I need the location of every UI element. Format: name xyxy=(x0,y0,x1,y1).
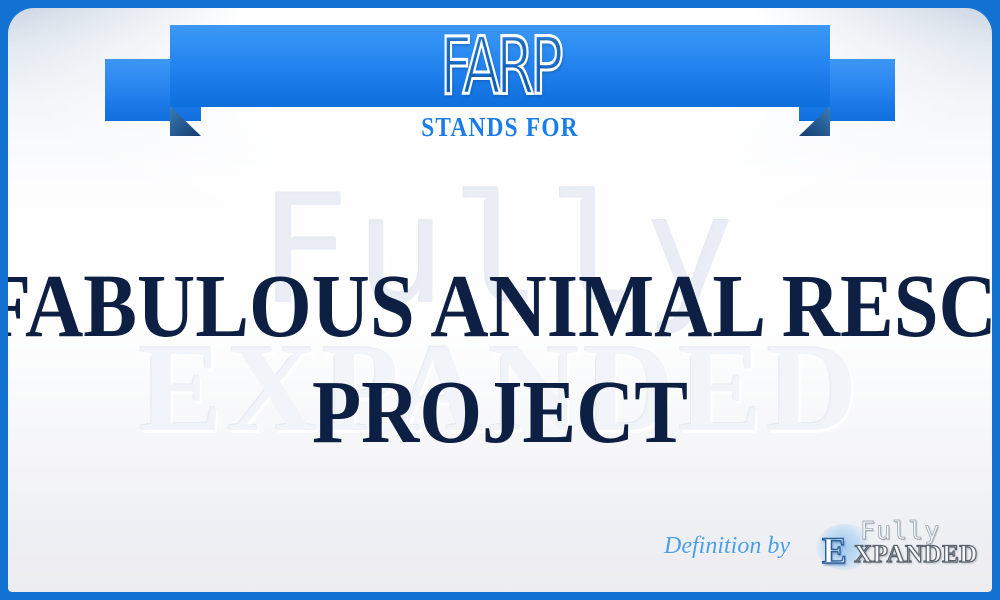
ribbon-banner: FARP xyxy=(8,22,992,126)
acronym-definition-card: Fully EXPANDED FARP STANDS FOR FABULOUS … xyxy=(0,0,1000,600)
logo-initial-e: E xyxy=(822,533,847,570)
stands-for-label: STANDS FOR xyxy=(77,112,923,143)
card-panel: Fully EXPANDED FARP STANDS FOR FABULOUS … xyxy=(8,8,992,592)
definition-line-2: PROJECT xyxy=(8,369,992,457)
definition-text: FABULOUS ANIMAL RESCUE PROJECT xyxy=(8,263,992,458)
definition-line-1: FABULOUS ANIMAL RESCUE xyxy=(8,263,992,351)
ribbon-band: FARP xyxy=(170,25,830,107)
logo-word-xpanded: XPANDED xyxy=(854,542,978,567)
logo-word-fully: Fully xyxy=(860,518,940,543)
acronym-title: FARP xyxy=(440,26,559,105)
definition-by-label: Definition by xyxy=(664,533,790,560)
card-footer: Definition by Fully E XPANDED xyxy=(8,518,992,574)
fully-expanded-logo[interactable]: Fully E XPANDED xyxy=(814,520,974,572)
